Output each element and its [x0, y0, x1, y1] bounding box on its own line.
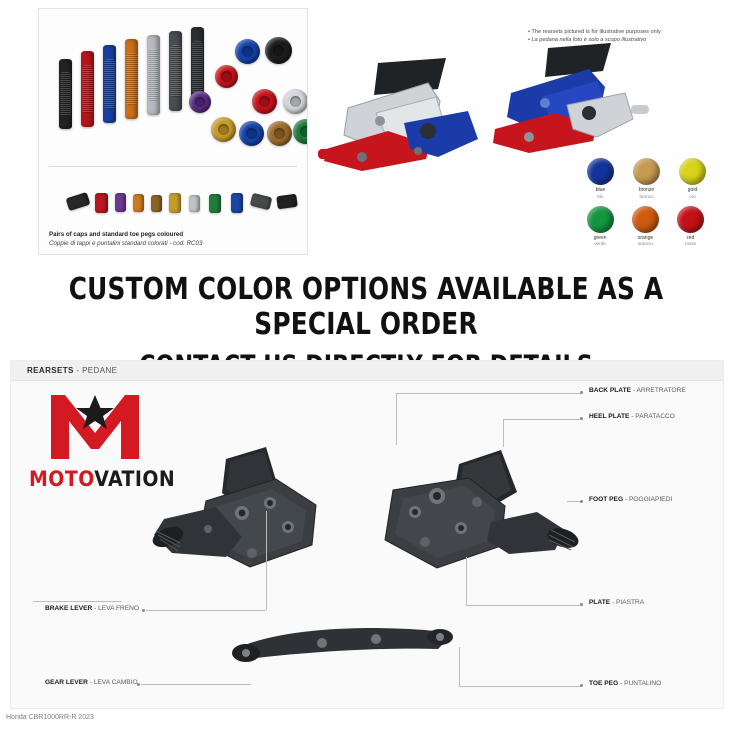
- leader-brake-lever-h2: [146, 610, 266, 611]
- peg-gold: [169, 193, 181, 213]
- leader-heel-plate-h: [503, 419, 581, 420]
- grip-red: [81, 51, 94, 127]
- swatch-label-gold-it: oro: [675, 194, 710, 200]
- swatch-label-green-it: verde: [583, 241, 617, 247]
- callout-heel-plate: HEEL PLATE - PARATACCO: [589, 413, 675, 420]
- illustrative-note-it: • La pedana nella foto è solo a scopo il…: [528, 36, 718, 44]
- motovation-m-mark-icon: [49, 389, 141, 461]
- swatch-red: red rosso: [674, 206, 708, 248]
- swatch-gold: gold oro: [675, 158, 710, 200]
- leader-plate-v: [466, 557, 467, 605]
- swatch-dot-gold: [679, 158, 706, 185]
- cap-gold: [211, 117, 236, 142]
- rearsets-diagram-section: REARSETS - PEDANE MOTOVATION: [10, 360, 724, 709]
- top-product-photo-section: Pairs of caps and standard toe pegs colo…: [0, 0, 732, 258]
- leader-toe-peg-v: [459, 647, 460, 686]
- peg-graphite: [250, 193, 273, 210]
- callout-plate-it: - PIASTRA: [610, 599, 644, 606]
- callout-gear-lever-bold: GEAR LEVER: [45, 679, 88, 686]
- swatch-orange: orange arancio: [628, 206, 662, 248]
- cap-bronze: [267, 121, 292, 146]
- swatch-row-1: blue blu bronze bronzo gold oro: [583, 158, 718, 200]
- callout-brake-lever-bold: BRAKE LEVER: [45, 605, 92, 612]
- swatch-label-orange-it: arancio: [628, 241, 662, 247]
- swatch-dot-bronze: [633, 158, 660, 185]
- callout-brake-lever-it: - LEVA FRENO: [92, 605, 139, 612]
- diagram-header-bold: REARSETS: [27, 366, 74, 375]
- swatch-blue: blue blu: [583, 158, 618, 200]
- peg-purple: [115, 193, 126, 212]
- callout-back-plate: BACK PLATE - ARRETRATORE: [589, 387, 686, 394]
- leader-heel-plate-v: [503, 419, 504, 447]
- peg-blue: [231, 193, 243, 213]
- callout-heel-plate-bold: HEEL PLATE: [589, 413, 629, 420]
- callout-heel-plate-it: - PARATACCO: [629, 413, 674, 420]
- swatch-dot-blue: [587, 158, 614, 185]
- swatch-label-red-it: rosso: [674, 241, 708, 247]
- motovation-logo: MOTOVATION: [29, 389, 159, 499]
- peg-silver: [189, 195, 200, 212]
- cap-red-top: [215, 65, 238, 88]
- grip-orange: [125, 39, 138, 119]
- grip-graphite: [169, 31, 182, 111]
- leader-dot-brake-lever: [142, 609, 145, 612]
- swatch-dot-orange: [632, 206, 659, 233]
- leader-plate-h: [466, 605, 581, 606]
- leader-back-plate-h: [396, 393, 581, 394]
- diagram-header-light: - PEDANE: [74, 366, 118, 375]
- illustrative-note-en: • The rearsets pictured is for illustrat…: [528, 28, 718, 36]
- diagram-header-bar: REARSETS - PEDANE: [11, 361, 723, 381]
- diagram-header-title: REARSETS - PEDANE: [27, 366, 117, 375]
- peg-black-2: [276, 194, 298, 210]
- grip-silver: [147, 35, 160, 115]
- callout-back-plate-bold: BACK PLATE: [589, 387, 631, 394]
- right-rearset-assembly-illustration: [341, 436, 601, 636]
- callout-toe-peg-bold: TOE PEG: [589, 680, 618, 687]
- headline-line-1: CUSTOM COLOR OPTIONS AVAILABLE AS A SPEC…: [29, 258, 702, 342]
- leader-brake-lever-v: [266, 511, 267, 610]
- cap-red: [252, 89, 277, 114]
- illustrative-note: • The rearsets pictured is for illustrat…: [528, 28, 718, 44]
- cap-blue-2: [239, 121, 264, 146]
- caps-panel-caption: Pairs of caps and standard toe pegs colo…: [49, 231, 299, 248]
- peg-bronze: [151, 195, 162, 212]
- illustrative-rearsets-panel: • The rearsets pictured is for illustrat…: [318, 8, 718, 253]
- grip-blue: [103, 45, 116, 123]
- callout-toe-peg-it: - PUNTALINO: [618, 680, 661, 687]
- leader-dot-plate: [580, 603, 583, 606]
- callout-plate: PLATE - PIASTRA: [589, 599, 644, 606]
- leader-brake-lever-h: [33, 601, 121, 602]
- callout-foot-peg: FOOT PEG - POGGIAPIEDI: [589, 496, 672, 503]
- callout-toe-peg: TOE PEG - PUNTALINO: [589, 680, 661, 687]
- leader-back-plate-v: [396, 393, 397, 445]
- swatch-dot-red: [677, 206, 704, 233]
- peg-orange: [133, 194, 144, 212]
- callout-brake-lever: BRAKE LEVER - LEVA FRENO: [45, 605, 139, 612]
- panel-divider: [49, 166, 297, 167]
- peg-black: [66, 192, 91, 211]
- logo-text-moto: MOTO: [29, 467, 94, 491]
- leader-dot-toe-peg: [580, 684, 583, 687]
- callout-gear-lever: GEAR LEVER - LEVA CAMBIO: [45, 679, 138, 686]
- leader-gear-lever-h: [141, 684, 251, 685]
- swatch-label-bronze-it: bronzo: [629, 194, 664, 200]
- peg-red: [95, 193, 108, 213]
- headline-band: CUSTOM COLOR OPTIONS AVAILABLE AS A SPEC…: [0, 258, 732, 356]
- swatch-dot-green: [587, 206, 614, 233]
- caps-and-toe-pegs-panel: Pairs of caps and standard toe pegs colo…: [38, 8, 308, 255]
- cap-silver: [283, 89, 308, 114]
- caps-caption-it: Coppie di tappi e puntalini standard col…: [49, 240, 299, 249]
- leader-toe-peg-h: [459, 686, 581, 687]
- callout-foot-peg-it: - POGGIAPIEDI: [623, 496, 672, 503]
- swatch-label-blue-it: blu: [583, 194, 618, 200]
- peg-green: [209, 194, 221, 213]
- callout-gear-lever-it: - LEVA CAMBIO: [88, 679, 138, 686]
- leader-dot-back-plate: [580, 391, 583, 394]
- cap-purple: [189, 91, 211, 113]
- callout-back-plate-it: - ARRETRATORE: [631, 387, 686, 394]
- callout-foot-peg-bold: FOOT PEG: [589, 496, 623, 503]
- swatch-row-2: green verde orange arancio red rosso sil…: [583, 206, 718, 248]
- footer-caption: Honda CBR1000RR-R 2023: [6, 714, 94, 721]
- cap-green: [293, 119, 308, 144]
- swatch-green: green verde: [583, 206, 617, 248]
- callout-plate-bold: PLATE: [589, 599, 610, 606]
- swatch-bronze: bronze bronzo: [629, 158, 664, 200]
- leader-dot-foot-peg: [580, 500, 583, 503]
- cap-blue: [235, 39, 260, 64]
- gear-lever-illustration: [226, 621, 486, 681]
- caps-caption-en: Pairs of caps and standard toe pegs colo…: [49, 231, 299, 240]
- motovation-wordmark: MOTOVATION: [29, 467, 159, 491]
- leader-dot-heel-plate: [580, 417, 583, 420]
- cap-black: [265, 37, 292, 64]
- grip-black: [59, 59, 72, 129]
- color-swatch-grid: blue blu bronze bronzo gold oro green: [583, 158, 718, 253]
